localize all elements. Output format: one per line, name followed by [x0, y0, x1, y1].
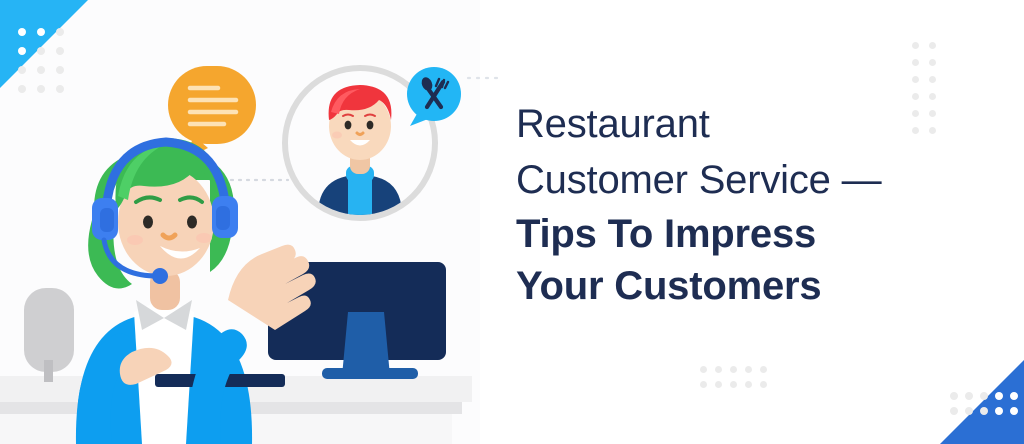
- customer-nose: [357, 133, 363, 135]
- decorative-dot: [700, 366, 707, 373]
- decorative-dot: [929, 76, 936, 83]
- decorative-dot: [950, 407, 958, 415]
- decorative-dot: [929, 42, 936, 49]
- dot-grid-bottom-right: [950, 392, 1016, 414]
- decorative-dot: [980, 392, 988, 400]
- decorative-dot: [1010, 407, 1018, 415]
- office-chair: [24, 288, 74, 382]
- page-title: Restaurant Customer Service — Tips To Im…: [516, 96, 1016, 312]
- decorative-dot: [980, 407, 988, 415]
- customer-eye-left: [345, 121, 352, 130]
- illustration: [0, 0, 500, 444]
- decorative-dot: [745, 366, 752, 373]
- agent-nose: [163, 235, 175, 238]
- decorative-dot: [730, 381, 737, 388]
- decorative-dot: [995, 407, 1003, 415]
- decorative-dot: [1010, 392, 1018, 400]
- decorative-dot: [715, 366, 722, 373]
- chair-post: [44, 360, 53, 382]
- decorative-dot: [715, 381, 722, 388]
- decorative-dot: [912, 42, 919, 49]
- decorative-dot: [929, 59, 936, 66]
- headline-line-3: Tips To Impress: [516, 208, 1016, 260]
- decorative-dot: [950, 392, 958, 400]
- decorative-dot: [730, 366, 737, 373]
- agent-eye-right: [187, 216, 197, 229]
- decorative-dot: [912, 76, 919, 83]
- banner: Restaurant Customer Service — Tips To Im…: [0, 0, 1024, 444]
- headline-line-2: Customer Service —: [516, 152, 1016, 208]
- decorative-dot: [760, 381, 767, 388]
- chair-back: [24, 288, 74, 372]
- decorative-dot: [745, 381, 752, 388]
- customer-avatar: [318, 85, 402, 246]
- decorative-dot: [760, 366, 767, 373]
- food-bubble: [407, 67, 461, 126]
- headline-line-1: Restaurant: [516, 96, 1016, 152]
- monitor-base: [322, 368, 418, 379]
- decorative-dot: [965, 392, 973, 400]
- monitor-stand: [342, 312, 390, 376]
- decorative-dot: [965, 407, 973, 415]
- customer-eye-right: [367, 121, 374, 130]
- agent-eye-left: [143, 216, 153, 229]
- headset-mic: [152, 268, 168, 284]
- decorative-dot: [995, 392, 1003, 400]
- dotted-connector-top: [468, 14, 500, 128]
- decorative-dot: [912, 59, 919, 66]
- decorative-dot: [700, 381, 707, 388]
- dot-grid-bottom-center: [700, 366, 764, 388]
- chat-bubble-body: [168, 66, 256, 144]
- headline-line-4: Your Customers: [516, 260, 1016, 312]
